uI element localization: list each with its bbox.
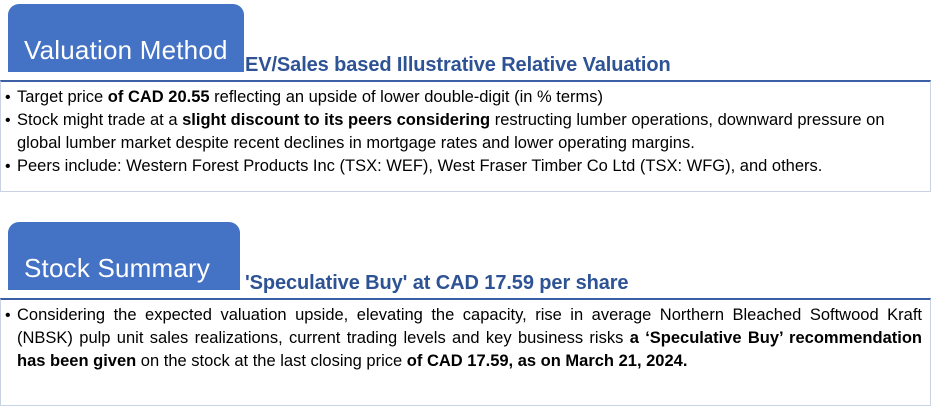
list-item: Considering the expected valuation upsid… [5,304,922,373]
report-callout-page: Valuation Method EV/Sales based Illustra… [0,0,931,403]
body-text: Stock might trade at a [17,111,182,129]
emphasis-text: of CAD 17.59, as on March 21, 2024. [407,352,688,370]
section-badge-valuation-method: Valuation Method [8,4,244,72]
body-text: reflecting an upside of lower double-dig… [210,88,603,106]
bullet-list-valuation: Target price of CAD 20.55 reflecting an … [5,86,922,178]
section-title-stock-summary: 'Speculative Buy' at CAD 17.59 per share [245,272,628,295]
section-badge-stock-summary: Stock Summary [8,222,240,290]
body-text: on the stock at the last closing price [136,352,407,370]
body-text: Peers include: Western Forest Products I… [17,157,822,175]
section-header-stock-summary: Stock Summary 'Speculative Buy' at CAD 1… [0,222,931,298]
emphasis-text: slight discount to its peers considering [182,111,490,129]
bullet-list-stock-summary: Considering the expected valuation upsid… [5,304,922,373]
section-body-valuation-method: Target price of CAD 20.55 reflecting an … [0,80,931,192]
list-item: Peers include: Western Forest Products I… [5,155,922,178]
section-stock-summary: Stock Summary 'Speculative Buy' at CAD 1… [0,222,931,406]
list-item: Stock might trade at a slight discount t… [5,109,922,155]
emphasis-text: of CAD 20.55 [108,88,210,106]
body-text: Target price [17,88,108,106]
section-body-stock-summary: Considering the expected valuation upsid… [0,298,931,406]
list-item: Target price of CAD 20.55 reflecting an … [5,86,922,109]
section-title-valuation-method: EV/Sales based Illustrative Relative Val… [245,54,671,77]
section-valuation-method: Valuation Method EV/Sales based Illustra… [0,4,931,192]
section-header-valuation: Valuation Method EV/Sales based Illustra… [0,4,931,80]
